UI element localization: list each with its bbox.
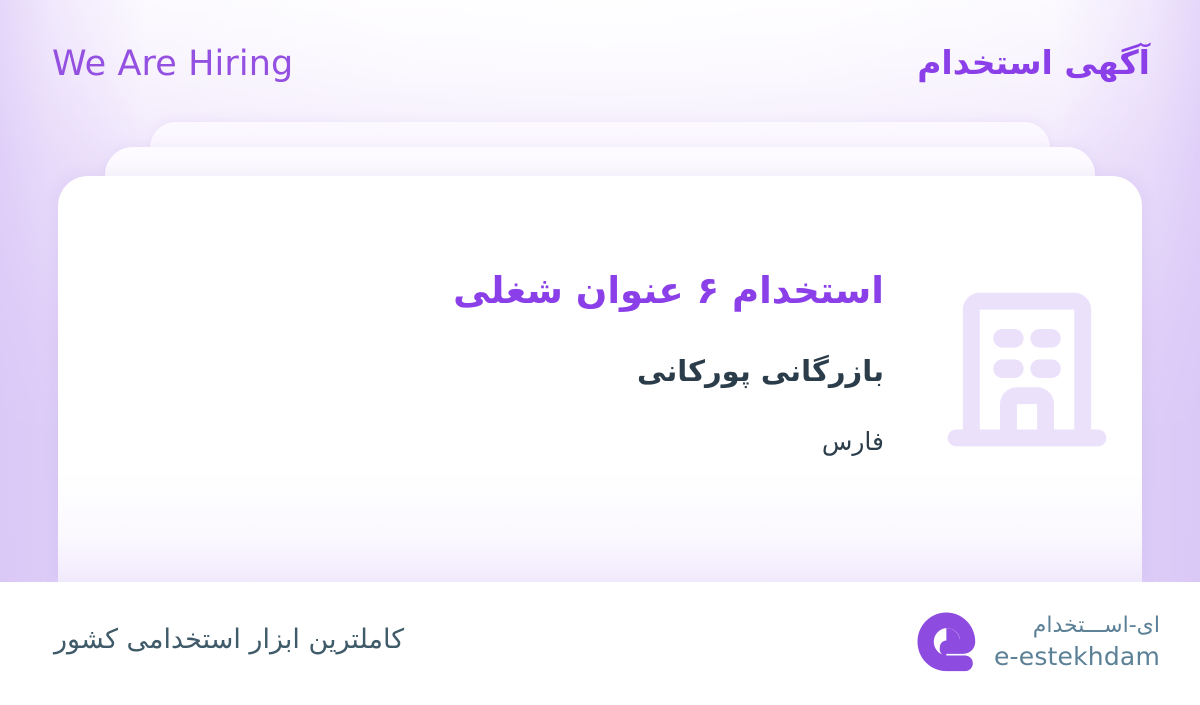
building-icon	[946, 281, 1108, 453]
company-name: بازرگانی پورکانی	[637, 349, 884, 393]
company-logo-slot	[912, 281, 1142, 477]
brand-name-en: e-estekhdam	[994, 641, 1160, 673]
job-details: استخدام ۶ عنوان شغلی بازرگانی پورکانی فا…	[58, 263, 912, 495]
hero-background: We Are Hiring آگهی استخدام	[0, 0, 1200, 582]
job-card-content: استخدام ۶ عنوان شغلی بازرگانی پورکانی فا…	[58, 176, 1142, 582]
hiring-label-en: We Are Hiring	[52, 40, 293, 88]
poster-footer: کاملترین ابزار استخدامی کشور ای-اســـتخد…	[0, 582, 1200, 705]
letter-e-logo-icon	[914, 610, 976, 674]
brand-name-fa: ای-اســـتخدام	[1033, 611, 1160, 641]
brand-lockup[interactable]: ای-اســـتخدام e-estekhdam	[914, 610, 1160, 674]
job-ad-poster: We Are Hiring آگهی استخدام	[0, 0, 1200, 705]
footer-tagline: کاملترین ابزار استخدامی کشور	[54, 618, 404, 662]
job-location: فارس	[822, 423, 884, 461]
hiring-label-fa: آگهی استخدام	[917, 38, 1150, 88]
job-title: استخدام ۶ عنوان شغلی	[453, 263, 884, 319]
brand-wordmark: ای-اســـتخدام e-estekhdam	[994, 611, 1160, 673]
poster-header: We Are Hiring آگهی استخدام	[0, 0, 1200, 118]
